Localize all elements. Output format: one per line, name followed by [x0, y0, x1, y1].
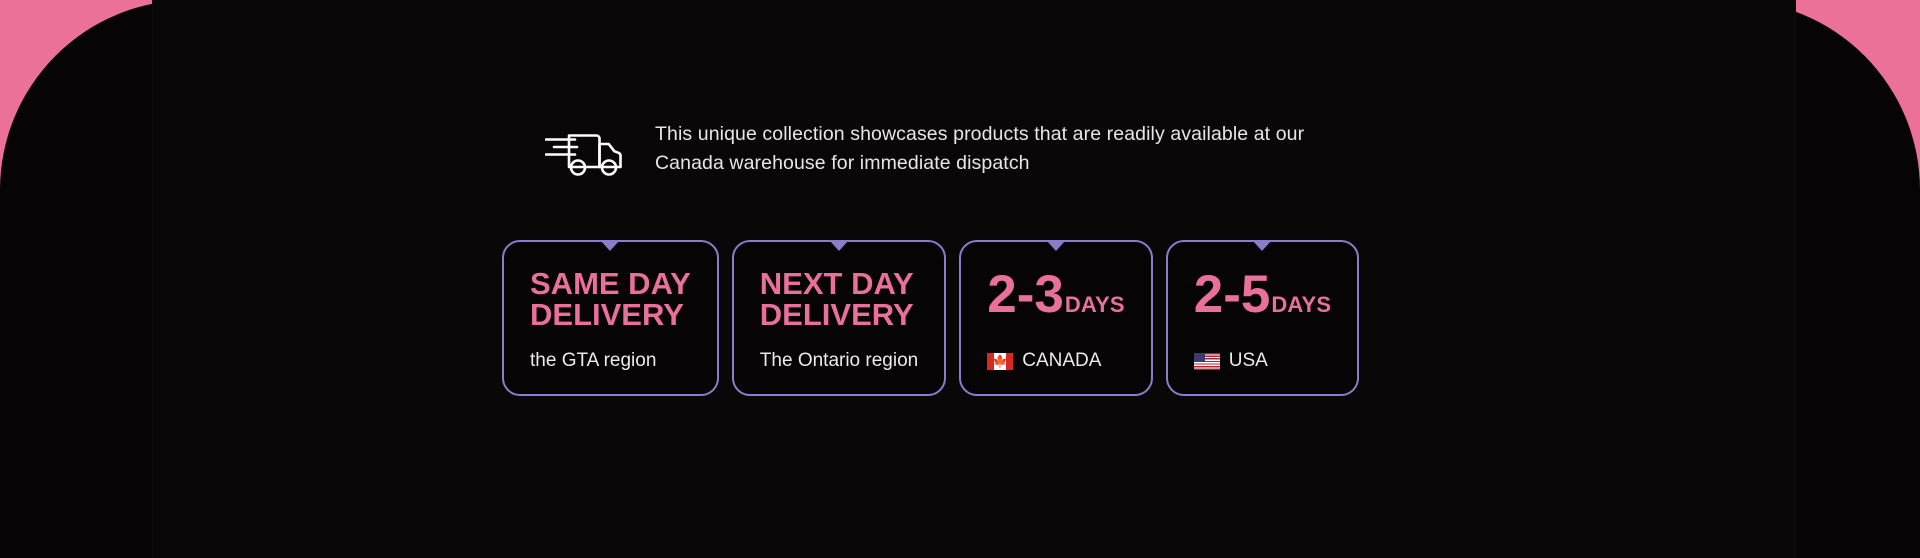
card-days-label: DAYS — [1065, 278, 1125, 332]
canada-flag-icon: 🍁 — [987, 353, 1013, 370]
card-notch-icon — [601, 241, 619, 251]
delivery-card-next-day[interactable]: NEXT DAY DELIVERY The Ontario region — [732, 240, 946, 396]
card-days-label: DAYS — [1271, 278, 1331, 332]
card-subtitle: 🍁 CANADA — [987, 350, 1125, 372]
delivery-card-usa[interactable]: 2-5 DAYS USA — [1166, 240, 1360, 396]
card-notch-icon — [1253, 241, 1271, 251]
card-headline-line1: NEXT DAY — [760, 268, 918, 299]
card-subtitle: USA — [1194, 350, 1332, 372]
card-headline-line1: SAME DAY — [530, 268, 691, 299]
delivery-badge-row: SAME DAY DELIVERY the GTA region NEXT DA… — [502, 240, 1359, 396]
card-subtitle: The Ontario region — [760, 350, 918, 372]
card-subtitle: the GTA region — [530, 350, 691, 372]
delivery-card-same-day[interactable]: SAME DAY DELIVERY the GTA region — [502, 240, 719, 396]
card-subtitle-text: The Ontario region — [760, 350, 918, 372]
card-subtitle-text: CANADA — [1022, 350, 1101, 372]
intro-row: This unique collection showcases product… — [545, 120, 1355, 178]
usa-flag-icon — [1194, 353, 1220, 370]
card-headline-line2: DELIVERY — [760, 299, 918, 330]
intro-description: This unique collection showcases product… — [655, 120, 1355, 178]
content-area: This unique collection showcases product… — [0, 0, 1920, 558]
card-headline: NEXT DAY DELIVERY — [760, 268, 918, 330]
delivery-truck-icon — [545, 126, 629, 178]
card-headline: SAME DAY DELIVERY — [530, 268, 691, 330]
card-subtitle-text: USA — [1229, 350, 1268, 372]
card-subtitle-text: the GTA region — [530, 350, 656, 372]
card-headline-line2: DELIVERY — [530, 299, 691, 330]
card-day-range: 2-3 — [987, 268, 1064, 322]
delivery-card-canada[interactable]: 2-3 DAYS 🍁 CANADA — [959, 240, 1153, 396]
card-headline: 2-3 DAYS — [987, 268, 1125, 332]
card-headline: 2-5 DAYS — [1194, 268, 1332, 332]
maple-leaf-glyph: 🍁 — [987, 355, 1013, 368]
card-day-range: 2-5 — [1194, 268, 1271, 322]
usa-flag-canton — [1194, 353, 1205, 362]
card-notch-icon — [1047, 241, 1065, 251]
card-notch-icon — [830, 241, 848, 251]
